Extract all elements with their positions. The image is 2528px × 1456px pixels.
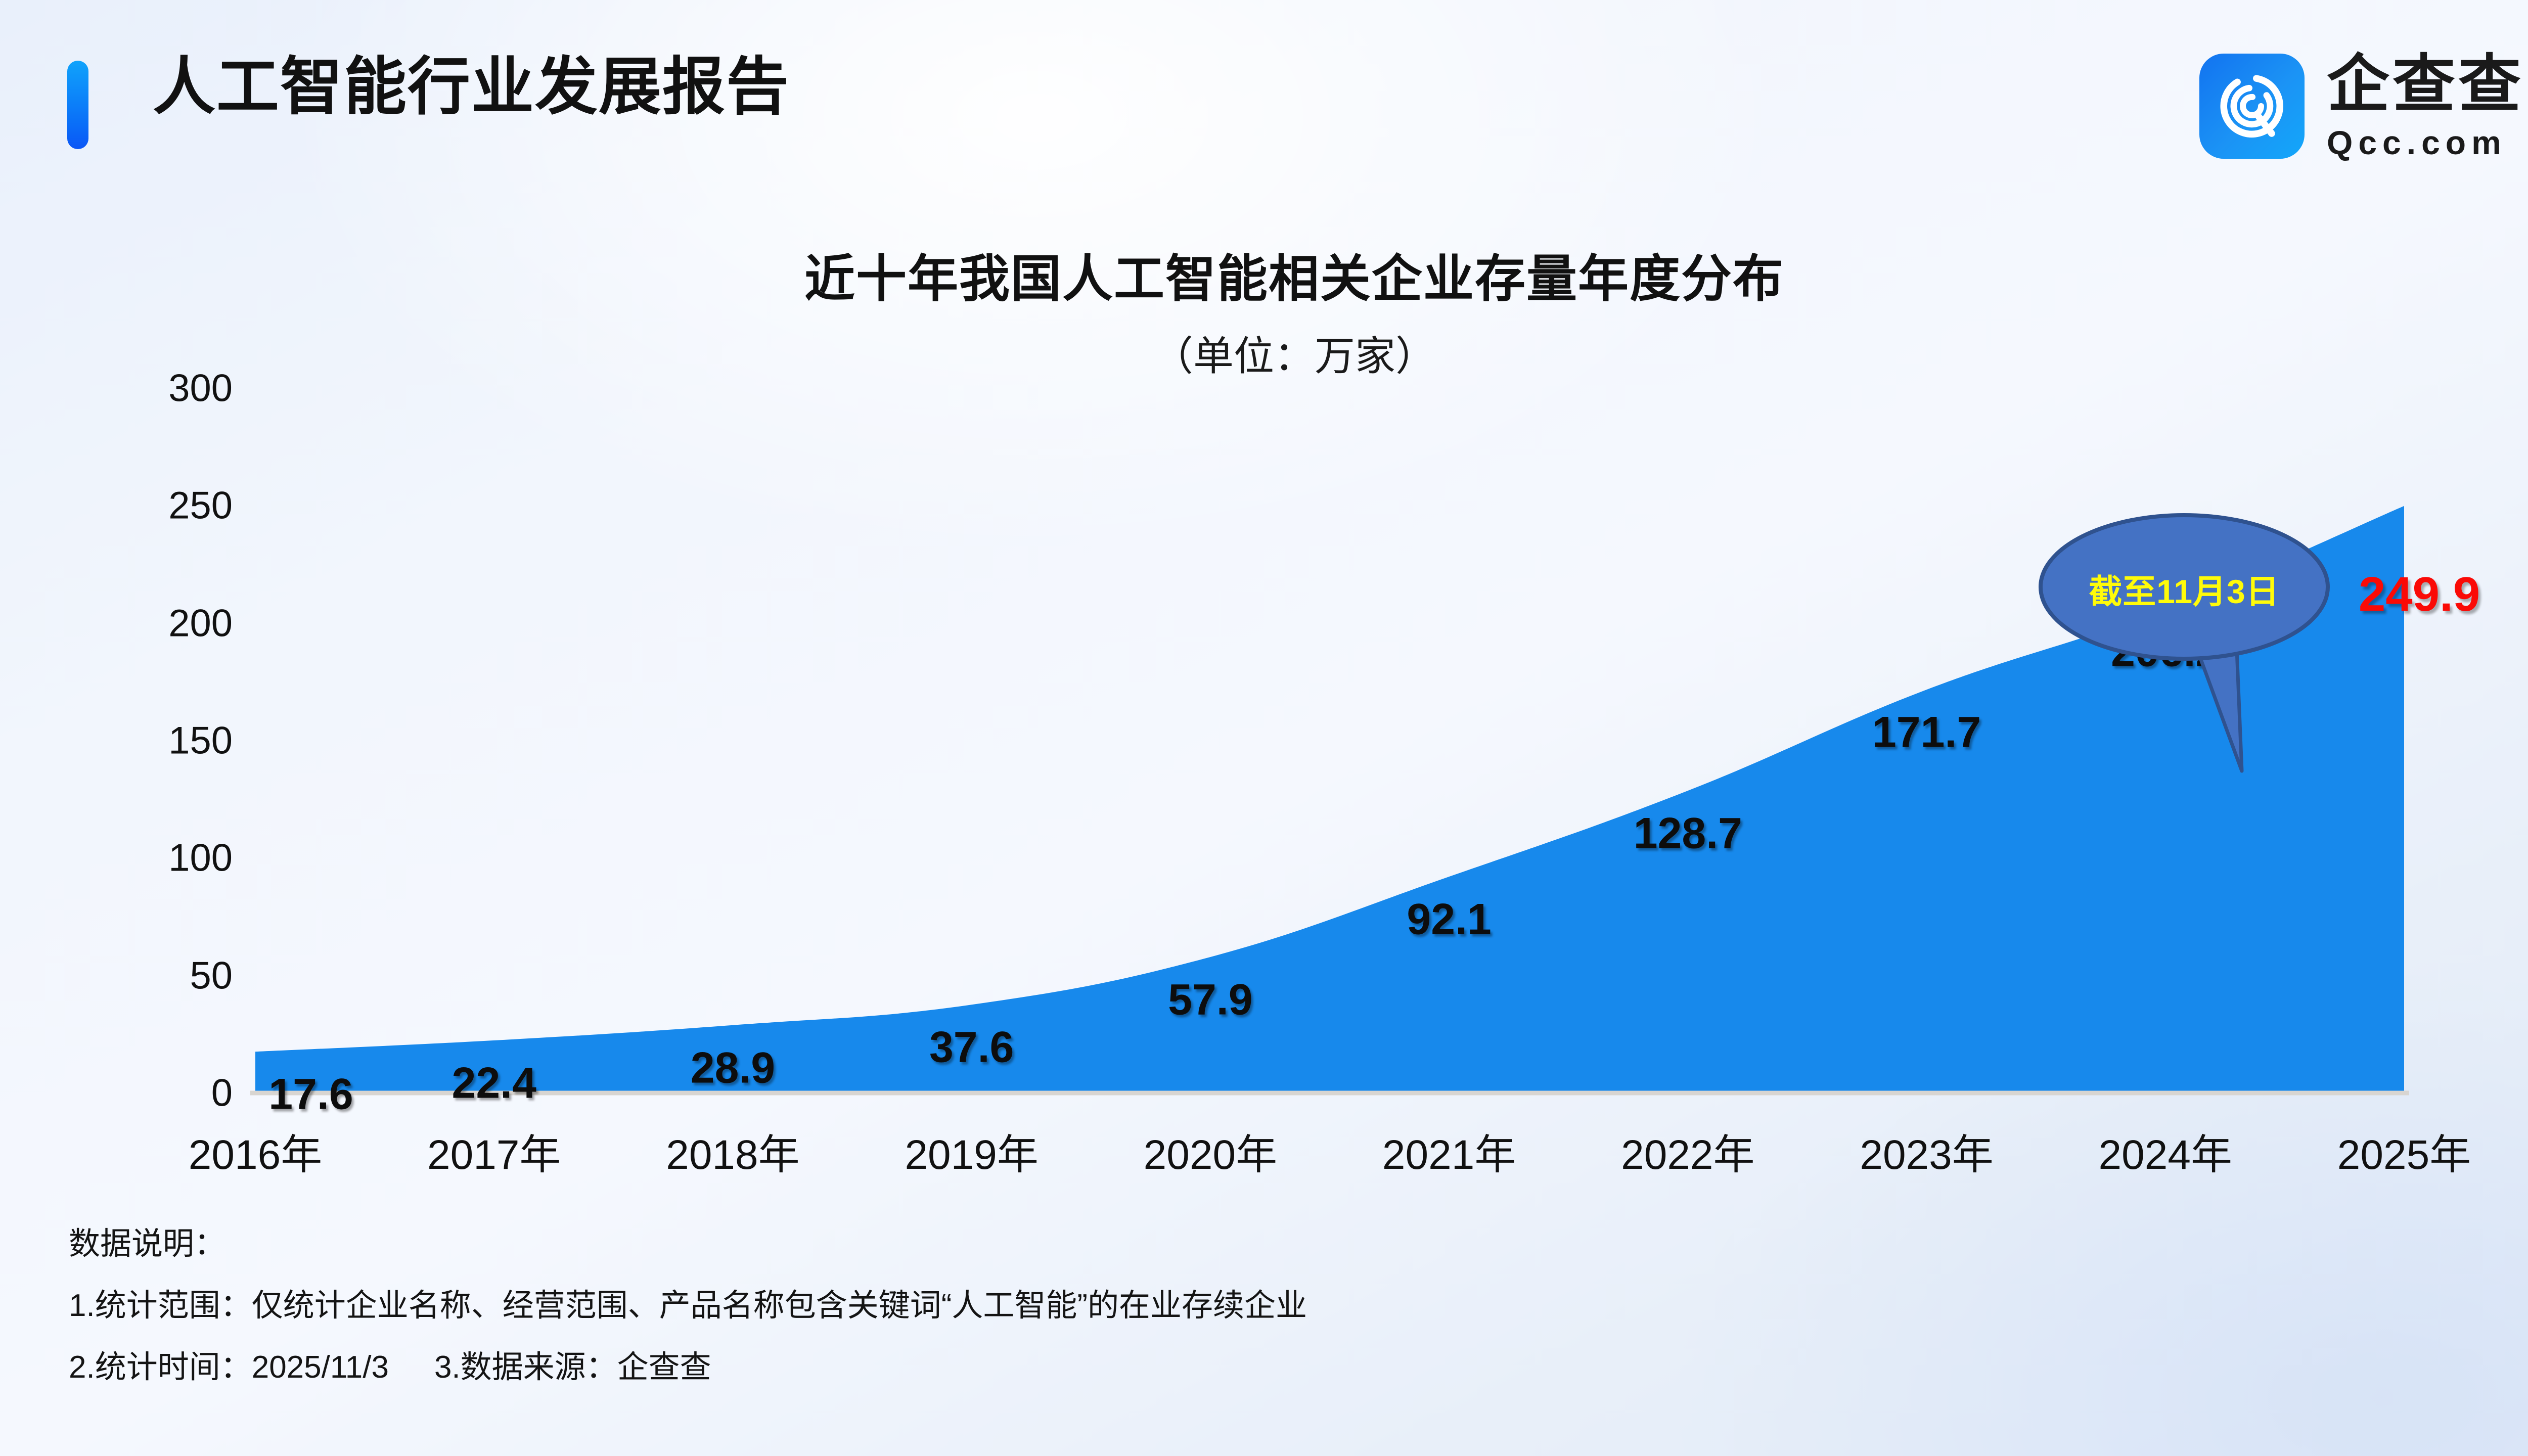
x-axis-tick-2018年: 2018年	[666, 1121, 799, 1181]
data-label-2025年: 249.9	[2359, 567, 2480, 622]
x-axis-tick-2016年: 2016年	[189, 1121, 322, 1181]
data-label-2022年: 128.7	[1634, 808, 1742, 858]
y-axis-tick-150: 150	[30, 719, 233, 763]
y-axis-tick-50: 50	[30, 953, 233, 997]
data-label-2018年: 28.9	[691, 1043, 775, 1093]
note-source: 3.数据来源：企查查	[434, 1350, 711, 1385]
note-time-and-source: 2.统计时间：2025/11/33.数据来源：企查查	[69, 1352, 2293, 1383]
y-axis-tick-0: 0	[30, 1071, 233, 1115]
y-axis-tick-300: 300	[30, 367, 233, 411]
chart-title: 近十年我国人工智能相关企业存量年度分布	[0, 238, 2528, 311]
logo-domain: Qcc.com	[2327, 126, 2524, 159]
page-header: 人工智能行业发展报告 企查查 Qcc.com	[0, 0, 2528, 212]
logo-cn-name: 企查查	[2327, 53, 2524, 116]
x-axis-tick-2023年: 2023年	[1860, 1121, 1993, 1181]
note-time: 2.统计时间：2025/11/3	[69, 1350, 389, 1385]
brand-logo[interactable]: 企查查 Qcc.com	[2199, 48, 2524, 164]
x-axis-tick-2024年: 2024年	[2099, 1121, 2232, 1181]
data-notes: 数据说明： 1.统计范围：仅统计企业名称、经营范围、产品名称包含关键词“人工智能…	[69, 1228, 2293, 1383]
x-axis-tick-2017年: 2017年	[427, 1121, 561, 1181]
data-label-2020年: 57.9	[1168, 975, 1252, 1025]
data-label-2019年: 37.6	[929, 1023, 1014, 1073]
header-accent-bar	[67, 61, 88, 149]
x-axis-tick-2025年: 2025年	[2337, 1121, 2471, 1181]
y-axis-tick-250: 250	[30, 484, 233, 528]
chart-subtitle: （单位：万家）	[0, 324, 2528, 382]
logo-wordmark: 企查查 Qcc.com	[2327, 53, 2524, 159]
area-series-fill	[255, 506, 2404, 1093]
x-axis-tick-2022年: 2022年	[1621, 1121, 1754, 1181]
report-page: 人工智能行业发展报告 企查查 Qcc.com 近十年我国人工智能相关企业存量年度…	[0, 0, 2528, 1456]
data-label-2017年: 22.4	[452, 1058, 536, 1108]
data-label-2021年: 92.1	[1407, 895, 1491, 945]
data-label-2024年: 206.2	[2111, 626, 2220, 676]
note-scope: 1.统计范围：仅统计企业名称、经营范围、产品名称包含关键词“人工智能”的在业存续…	[69, 1290, 2293, 1322]
area-chart-svg	[255, 388, 2404, 1093]
area-chart-plot	[255, 388, 2404, 1093]
qcc-target-q-icon	[2199, 54, 2305, 159]
x-axis-tick-2020年: 2020年	[1144, 1121, 1277, 1181]
y-axis-tick-200: 200	[30, 601, 233, 645]
y-axis-tick-100: 100	[30, 836, 233, 880]
data-label-2016年: 17.6	[268, 1070, 353, 1120]
notes-heading: 数据说明：	[69, 1228, 2293, 1260]
data-label-2023年: 171.7	[1872, 708, 1981, 758]
x-axis-tick-2021年: 2021年	[1382, 1121, 1516, 1181]
page-title: 人工智能行业发展报告	[153, 56, 790, 118]
x-axis-tick-2019年: 2019年	[905, 1121, 1038, 1181]
